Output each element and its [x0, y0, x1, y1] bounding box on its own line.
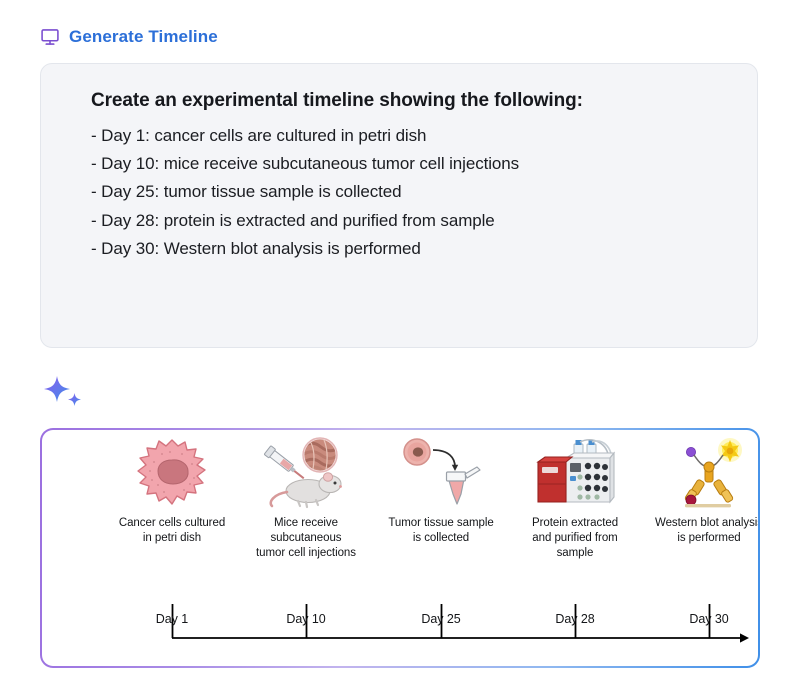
step-caption: Mice receive subcutaneous tumor cell inj… [256, 516, 356, 562]
prompt-card: Create an experimental timeline showing … [40, 63, 758, 348]
monitor-icon [40, 27, 60, 47]
timeline-steps: Cancer cells cultured in petri dish [42, 430, 758, 582]
prompt-line: - Day 30: Western blot analysis is perfo… [91, 235, 757, 263]
mouse-injection-icon [258, 436, 354, 510]
cancer-cell-icon [132, 436, 212, 510]
prompt-line: - Day 28: protein is extracted and purif… [91, 207, 757, 235]
prompt-line: - Day 1: cancer cells are cultured in pe… [91, 122, 757, 150]
timeline-result-card: Cancer cells cultured in petri dish [40, 428, 760, 668]
axis-day-label: Day 25 [421, 612, 460, 626]
page-title: Generate Timeline [69, 27, 218, 47]
axis-day-label: Day 10 [286, 612, 325, 626]
axis-day-label: Day 28 [555, 612, 594, 626]
prompt-line-list: - Day 1: cancer cells are cultured in pe… [91, 122, 757, 263]
tumor-tube-icon [395, 436, 487, 510]
step-caption: Cancer cells cultured in petri dish [119, 516, 225, 546]
antibody-icon [669, 436, 749, 510]
step-caption: Western blot analysis is performed [655, 516, 758, 546]
step-caption: Protein extracted and purified from samp… [532, 516, 618, 562]
axis-day-label: Day 30 [689, 612, 728, 626]
app-root: Generate Timeline Create an experimental… [0, 0, 800, 700]
timeline-canvas: Cancer cells cultured in petri dish [42, 430, 758, 666]
prompt-line: - Day 25: tumor tissue sample is collect… [91, 178, 757, 206]
timeline-axis [42, 580, 758, 660]
prompt-line: - Day 10: mice receive subcutaneous tumo… [91, 150, 757, 178]
step-caption: Tumor tissue sample is collected [388, 516, 493, 546]
prompt-title: Create an experimental timeline showing … [91, 90, 757, 112]
sparkle-icon [43, 376, 87, 410]
fplc-instrument-icon [530, 436, 620, 510]
axis-day-label: Day 1 [156, 612, 188, 626]
timeline-step: Western blot analysis is performed [624, 436, 758, 546]
generate-timeline-header: Generate Timeline [40, 27, 218, 47]
